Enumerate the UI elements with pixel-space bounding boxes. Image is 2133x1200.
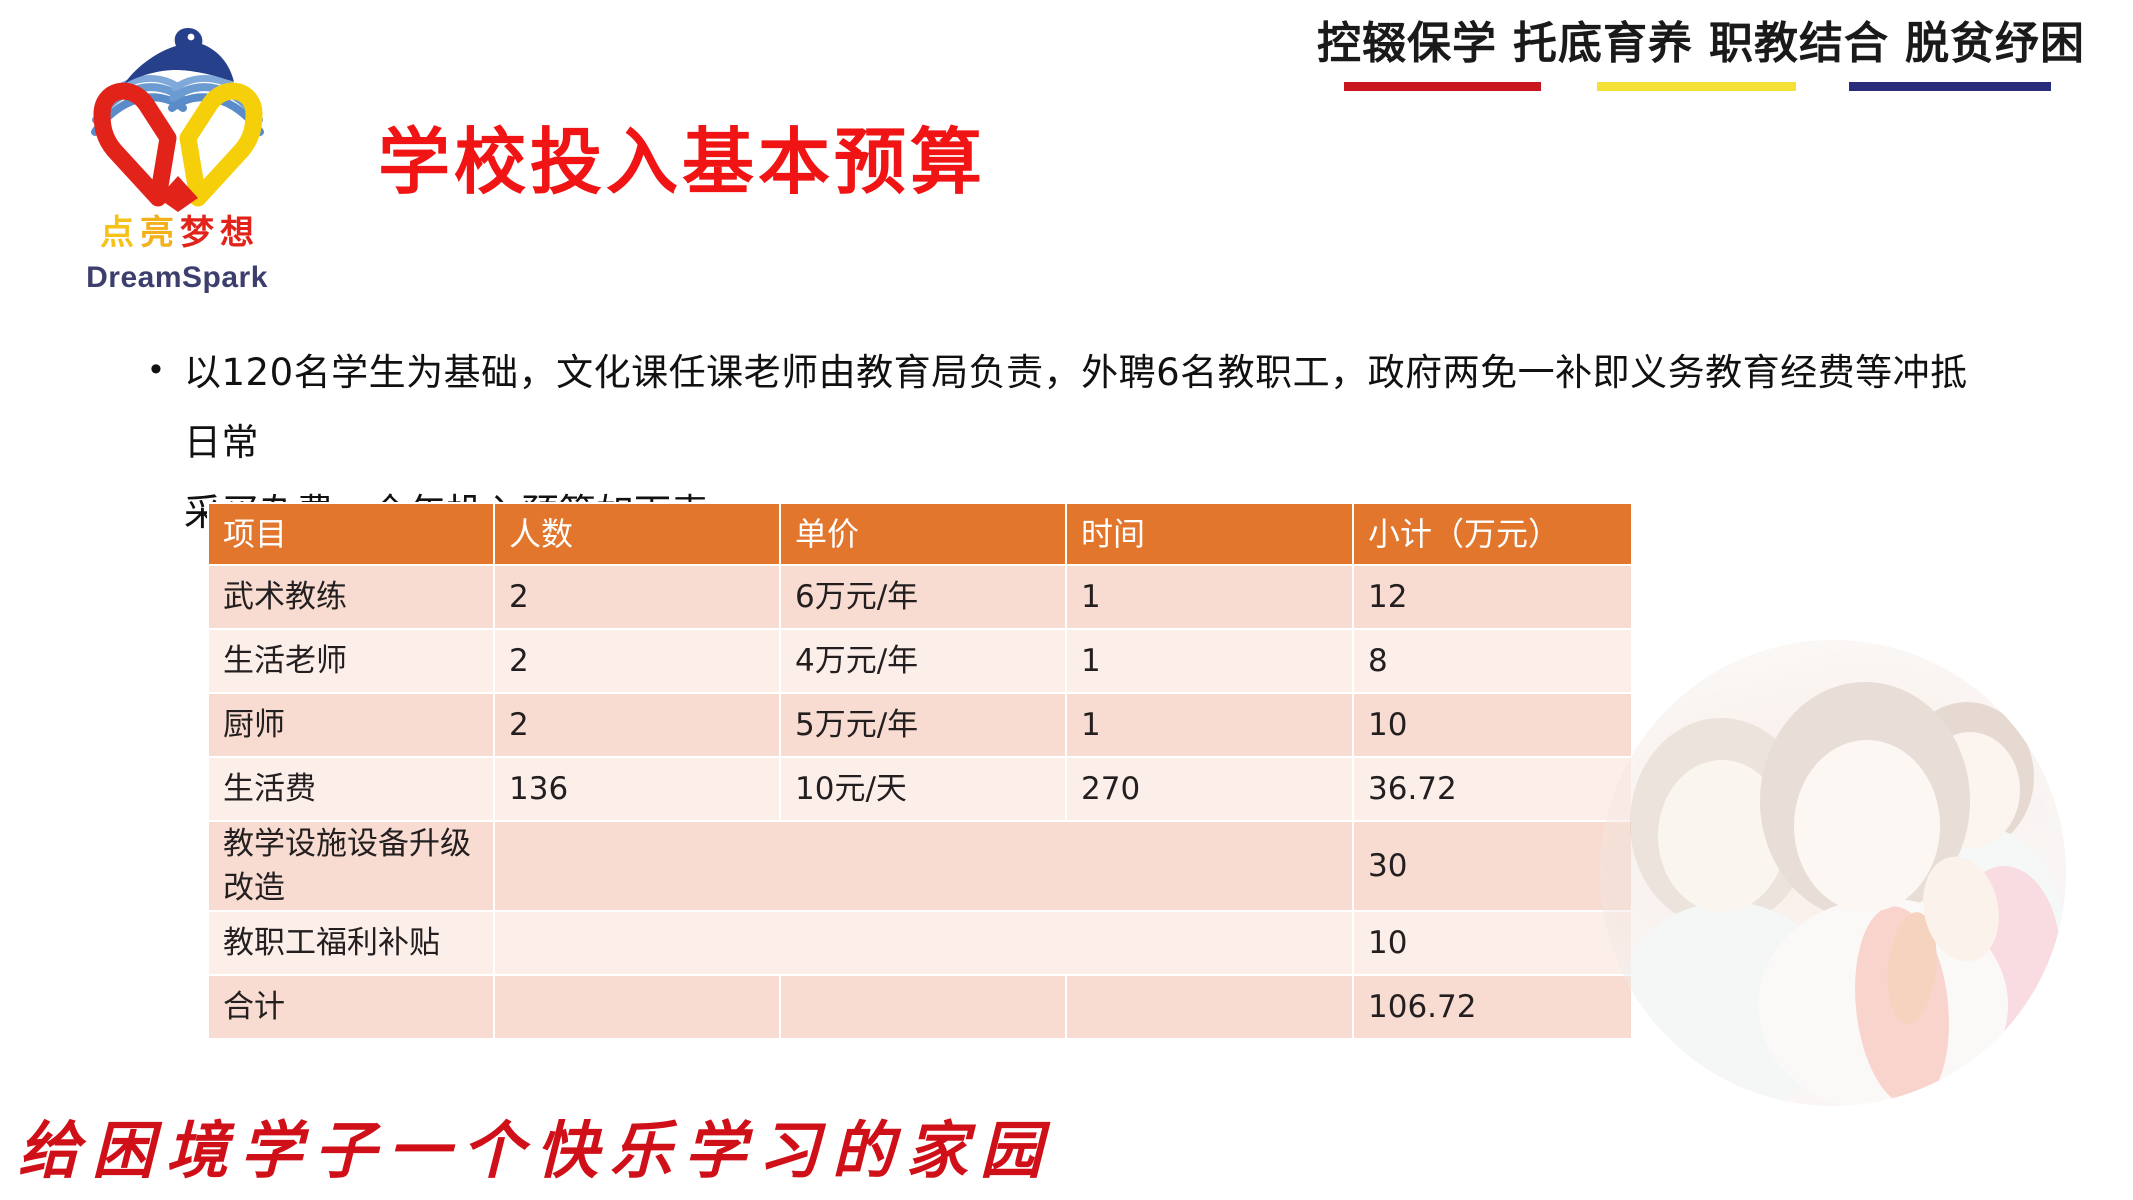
underline-bar-yellow <box>1597 82 1796 91</box>
header-slogan-phrases: 控辍保学托底育养职教结合脱贫纾困 <box>1317 16 2085 72</box>
footer-slogan: 给困境学子一个快乐学习的家园 <box>18 1112 1054 1190</box>
header-phrase-3: 职教结合 <box>1709 18 1889 69</box>
budget-table: 项目 人数 单价 时间 小计（万元） 武术教练26万元/年112生活老师24万元… <box>207 502 1633 1040</box>
cell-price: 4万元/年 <box>780 629 1066 693</box>
cell-merged-details <box>494 911 1353 975</box>
cell-price: 10元/天 <box>780 757 1066 821</box>
cell-subtotal: 8 <box>1353 629 1632 693</box>
bullet-marker-icon: • <box>150 338 184 400</box>
cell-item: 合计 <box>208 975 494 1039</box>
cell-price: 6万元/年 <box>780 565 1066 629</box>
table-row: 合计106.72 <box>208 975 1632 1039</box>
cell-count <box>494 975 780 1039</box>
cell-subtotal: 10 <box>1353 693 1632 757</box>
logo-char-4: 想 <box>220 213 260 253</box>
header-phrase-1: 控辍保学 <box>1317 18 1497 69</box>
column-header-count: 人数 <box>494 503 780 565</box>
logo-char-1: 点 <box>100 213 140 253</box>
cell-count: 2 <box>494 565 780 629</box>
logo-english-text: DreamSpark <box>62 261 292 295</box>
header-phrase-2: 托底育养 <box>1513 18 1693 69</box>
budget-table-head: 项目 人数 单价 时间 小计（万元） <box>208 503 1632 565</box>
cell-item: 厨师 <box>208 693 494 757</box>
cell-subtotal: 10 <box>1353 911 1632 975</box>
cell-count: 136 <box>494 757 780 821</box>
bullet-text-line-1: 以120名学生为基础，文化课任课老师由教育局负责，外聘6名教职工，政府两免一补即… <box>184 338 1990 478</box>
cell-item: 教职工福利补贴 <box>208 911 494 975</box>
cell-time: 1 <box>1066 565 1353 629</box>
header-slogan-underline-bars <box>1317 78 2085 98</box>
table-row: 生活老师24万元/年18 <box>208 629 1632 693</box>
cell-item: 生活老师 <box>208 629 494 693</box>
page-title: 学校投入基本预算 <box>378 118 986 206</box>
column-header-subtotal: 小计（万元） <box>1353 503 1632 565</box>
cell-item: 生活费 <box>208 757 494 821</box>
table-row: 生活费13610元/天27036.72 <box>208 757 1632 821</box>
cell-price: 5万元/年 <box>780 693 1066 757</box>
cell-subtotal: 36.72 <box>1353 757 1632 821</box>
logo-block: 点亮梦想 DreamSpark <box>62 12 292 302</box>
logo-char-2: 亮 <box>140 213 180 253</box>
column-header-price: 单价 <box>780 503 1066 565</box>
cell-item: 武术教练 <box>208 565 494 629</box>
column-header-item: 项目 <box>208 503 494 565</box>
logo-chinese-text: 点亮梦想 <box>70 210 290 258</box>
group-photo <box>1600 640 2066 1106</box>
underline-bar-navy <box>1849 82 2051 91</box>
cell-time: 1 <box>1066 629 1353 693</box>
table-row: 武术教练26万元/年112 <box>208 565 1632 629</box>
budget-table-body: 武术教练26万元/年112生活老师24万元/年18厨师25万元/年110生活费1… <box>208 565 1632 1039</box>
table-row: 厨师25万元/年110 <box>208 693 1632 757</box>
cell-time: 1 <box>1066 693 1353 757</box>
header-slogan: 控辍保学托底育养职教结合脱贫纾困 <box>1317 16 2085 98</box>
cell-price <box>780 975 1066 1039</box>
dreamspark-logo-icon <box>62 12 292 217</box>
cell-subtotal: 30 <box>1353 821 1632 911</box>
cell-subtotal: 106.72 <box>1353 975 1632 1039</box>
cell-count: 2 <box>494 693 780 757</box>
table-header-row: 项目 人数 单价 时间 小计（万元） <box>208 503 1632 565</box>
table-row: 教职工福利补贴10 <box>208 911 1632 975</box>
photo-woman-face <box>1794 740 1940 912</box>
logo-char-3: 梦 <box>180 213 220 253</box>
cell-time: 270 <box>1066 757 1353 821</box>
header-phrase-4: 脱贫纾困 <box>1905 18 2085 69</box>
table-row: 教学设施设备升级改造30 <box>208 821 1632 911</box>
cell-merged-details <box>494 821 1353 911</box>
underline-bar-red <box>1344 82 1541 91</box>
cell-time <box>1066 975 1353 1039</box>
column-header-time: 时间 <box>1066 503 1353 565</box>
cell-subtotal: 12 <box>1353 565 1632 629</box>
cell-count: 2 <box>494 629 780 693</box>
cell-item: 教学设施设备升级改造 <box>208 821 494 911</box>
